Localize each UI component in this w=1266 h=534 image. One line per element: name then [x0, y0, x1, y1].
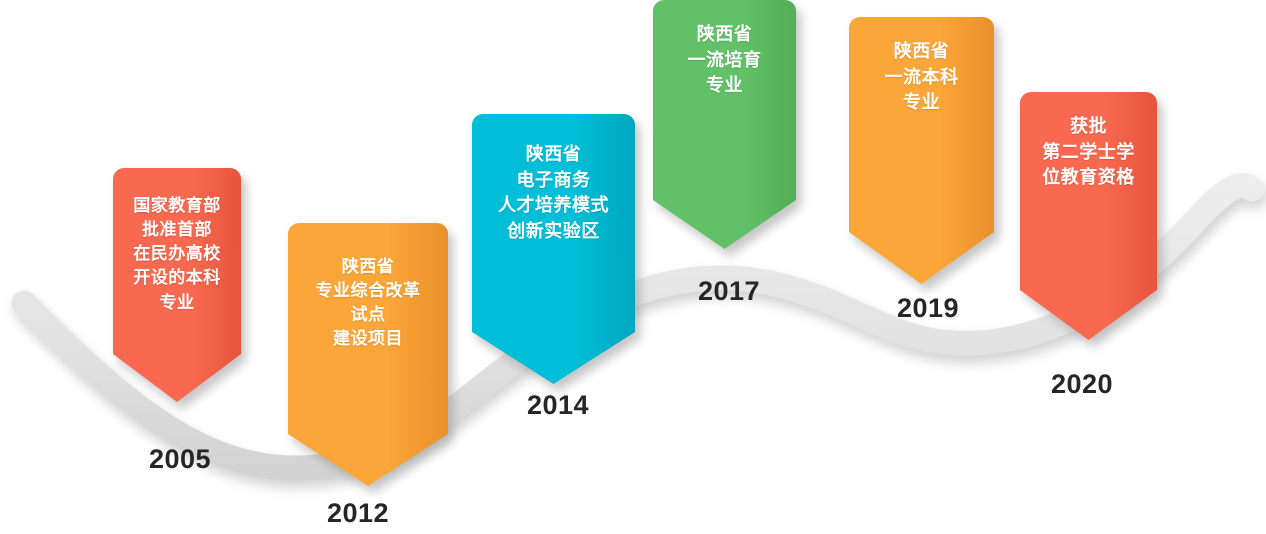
milestone-2005[interactable]: 国家教育部 批准首部 在民办高校 开设的本科 专业: [113, 168, 241, 402]
pin-shape-2017[interactable]: 陕西省 一流培育 专业: [653, 0, 796, 249]
milestone-2014[interactable]: 陕西省 电子商务 人才培养模式 创新实验区: [472, 114, 635, 384]
year-label-2017: 2017: [698, 278, 760, 305]
milestone-2017[interactable]: 陕西省 一流培育 专业: [653, 0, 796, 249]
milestone-2019[interactable]: 陕西省 一流本科 专业: [849, 17, 994, 284]
pin-body: [288, 223, 448, 486]
pin-body: [653, 0, 796, 249]
timeline-infographic: 国家教育部 批准首部 在民办高校 开设的本科 专业2005陕西省 专业综合改革 …: [0, 0, 1266, 534]
pin-body: [849, 17, 994, 284]
year-label-2019: 2019: [897, 295, 959, 322]
year-label-2020: 2020: [1051, 371, 1113, 398]
year-label-2005: 2005: [149, 446, 211, 473]
pin-shape-2020[interactable]: 获批 第二学士学 位教育资格: [1020, 92, 1157, 340]
pin-body: [113, 168, 241, 402]
pin-body: [472, 114, 635, 384]
milestone-2012[interactable]: 陕西省 专业综合改革 试点 建设项目: [288, 223, 448, 486]
year-label-2014: 2014: [527, 392, 589, 419]
year-label-2012: 2012: [327, 500, 389, 527]
milestone-2020[interactable]: 获批 第二学士学 位教育资格: [1020, 92, 1157, 340]
pin-shape-2019[interactable]: 陕西省 一流本科 专业: [849, 17, 994, 284]
pin-body: [1020, 92, 1157, 340]
pin-shape-2014[interactable]: 陕西省 电子商务 人才培养模式 创新实验区: [472, 114, 635, 384]
pin-shape-2012[interactable]: 陕西省 专业综合改革 试点 建设项目: [288, 223, 448, 486]
pin-shape-2005[interactable]: 国家教育部 批准首部 在民办高校 开设的本科 专业: [113, 168, 241, 402]
